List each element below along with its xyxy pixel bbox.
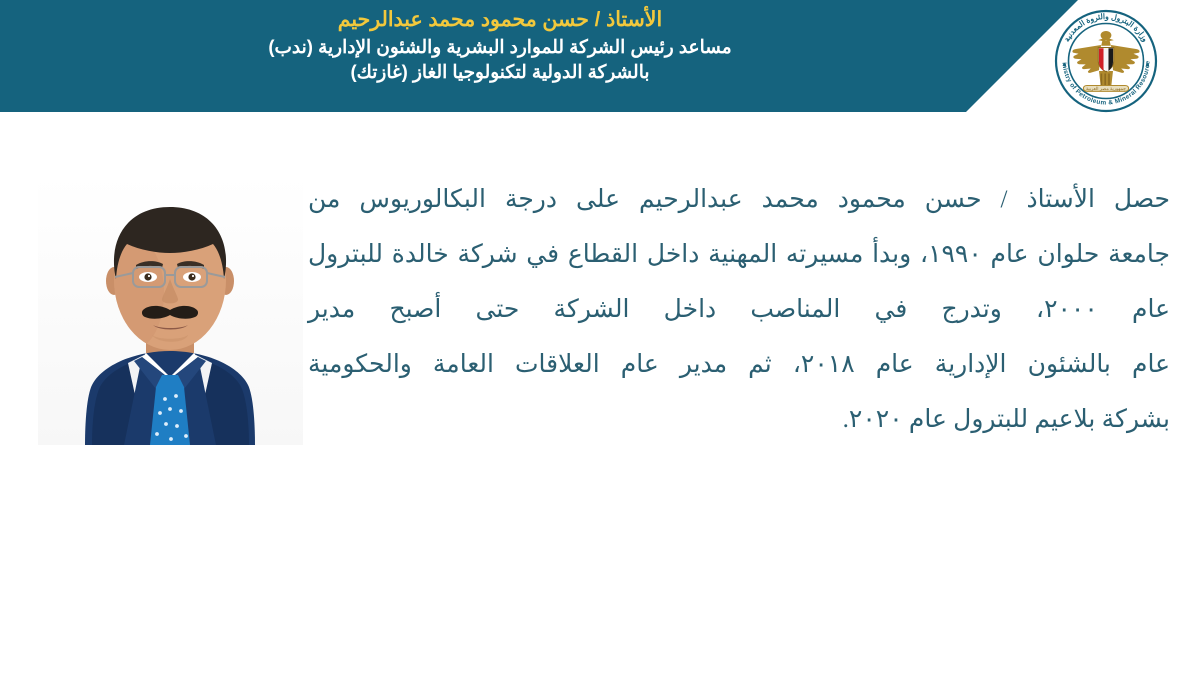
header-job-title-line-2: بالشركة الدولية لتكنولوجيا الغاز (غازتك) [0, 60, 1000, 84]
header-text-block: الأستاذ / حسن محمود محمد عبدالرحيم مساعد… [0, 6, 1000, 85]
portrait-photo [38, 175, 303, 445]
biography-text: حصل الأستاذ / حسن محمود محمد عبدالرحيم ع… [308, 172, 1170, 447]
header-job-title-line-1: مساعد رئيس الشركة للموارد البشرية والشئو… [0, 35, 1000, 59]
bio-line: عام ٢٠٠٠، وتدرج في المناصب داخل الشركة ح… [308, 282, 1170, 337]
bio-line: عام بالشئون الإدارية عام ٢٠١٨، ثم مدير ع… [308, 337, 1170, 392]
svg-text:Ministry of Petroleum & Minera: Ministry of Petroleum & Mineral Resource… [1054, 9, 1152, 107]
svg-text:جمهورية مصر العربية: جمهورية مصر العربية [1086, 86, 1126, 92]
svg-text:وزارة البترول والثروة المعدنية: وزارة البترول والثروة المعدنية [1062, 12, 1150, 44]
header-band-shape [0, 0, 1078, 112]
bio-line: جامعة حلوان عام ١٩٩٠، وبدأ مسيرته المهني… [308, 227, 1170, 282]
portrait-frame [38, 175, 303, 445]
ministry-logo-icon: وزارة البترول والثروة المعدنية Ministry … [1054, 9, 1158, 113]
header-banner: الأستاذ / حسن محمود محمد عبدالرحيم مساعد… [0, 0, 1200, 118]
bio-line: حصل الأستاذ / حسن محمود محمد عبدالرحيم ع… [308, 172, 1170, 227]
slide-canvas: الأستاذ / حسن محمود محمد عبدالرحيم مساعد… [0, 0, 1200, 675]
bio-line: بشركة بلاعيم للبترول عام ٢٠٢٠. [308, 392, 1170, 447]
header-person-name: الأستاذ / حسن محمود محمد عبدالرحيم [0, 6, 1000, 33]
